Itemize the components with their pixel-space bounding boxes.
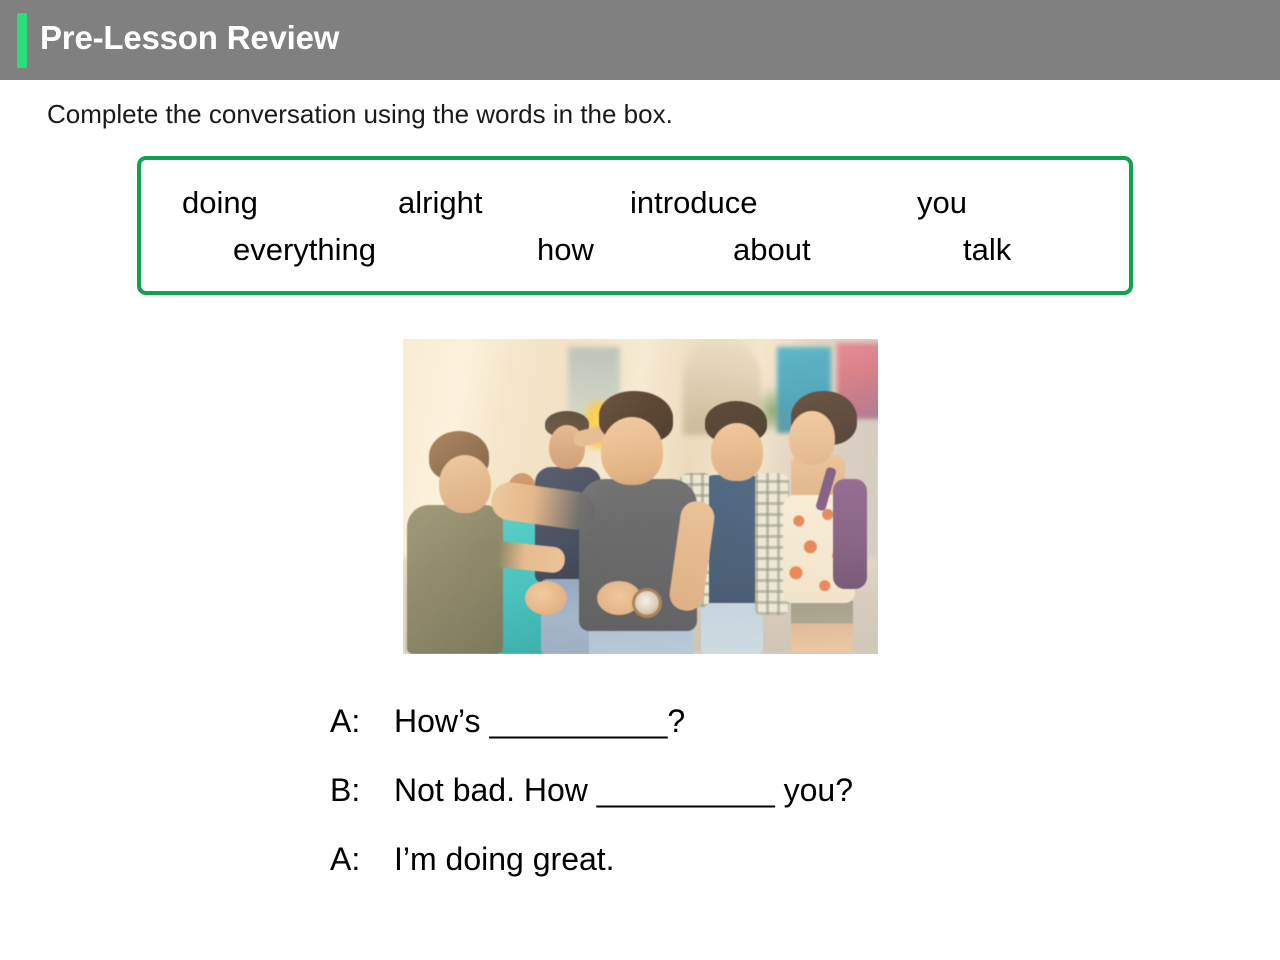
page-title: Pre-Lesson Review: [40, 19, 339, 57]
photo-main-legs: [589, 627, 693, 654]
dialogue-line-1: A: How’s __________?: [330, 703, 1030, 772]
dialogue-text-2[interactable]: Not bad. How __________ you?: [394, 772, 853, 809]
photo-floral-legs: [791, 597, 853, 654]
header-bar: Pre-Lesson Review: [0, 0, 1280, 80]
photo-floral-bag: [833, 479, 867, 589]
word-bank-box: doing alright introduce you everything h…: [137, 156, 1133, 295]
dialogue-line-3: A: I’m doing great.: [330, 841, 1030, 910]
word-bank-row-2: everything how about talk: [141, 228, 1129, 272]
word-everything[interactable]: everything: [233, 228, 376, 272]
photo-person-main: [543, 391, 723, 654]
accent-bar-icon: [17, 13, 27, 68]
dialogue-block: A: How’s __________? B: Not bad. How ___…: [330, 703, 1030, 910]
word-talk[interactable]: talk: [963, 228, 1011, 272]
photo-main-hand: [597, 581, 641, 615]
photo-olive-head: [439, 455, 491, 513]
photo-main-watch-icon: [635, 591, 659, 615]
photo-person-floral: [777, 391, 873, 654]
dialogue-text-3: I’m doing great.: [394, 841, 615, 878]
photo-person-olive: [407, 431, 507, 654]
word-about[interactable]: about: [733, 228, 811, 272]
word-introduce[interactable]: introduce: [630, 181, 758, 225]
photo-main-head: [601, 417, 663, 485]
dialogue-speaker-3: A:: [330, 841, 360, 878]
dialogue-speaker-2: B:: [330, 772, 360, 809]
word-how[interactable]: how: [537, 228, 594, 272]
word-you[interactable]: you: [917, 181, 967, 225]
photo-floral-head: [789, 411, 835, 465]
lesson-photo: [403, 339, 878, 654]
word-doing[interactable]: doing: [182, 181, 258, 225]
photo-olive-torso: [407, 505, 503, 654]
dialogue-speaker-1: A:: [330, 703, 360, 740]
word-bank-row-1: doing alright introduce you: [141, 181, 1129, 225]
dialogue-line-2: B: Not bad. How __________ you?: [330, 772, 1030, 841]
word-alright[interactable]: alright: [398, 181, 482, 225]
instruction-text: Complete the conversation using the word…: [47, 99, 673, 130]
dialogue-text-1[interactable]: How’s __________?: [394, 703, 685, 740]
